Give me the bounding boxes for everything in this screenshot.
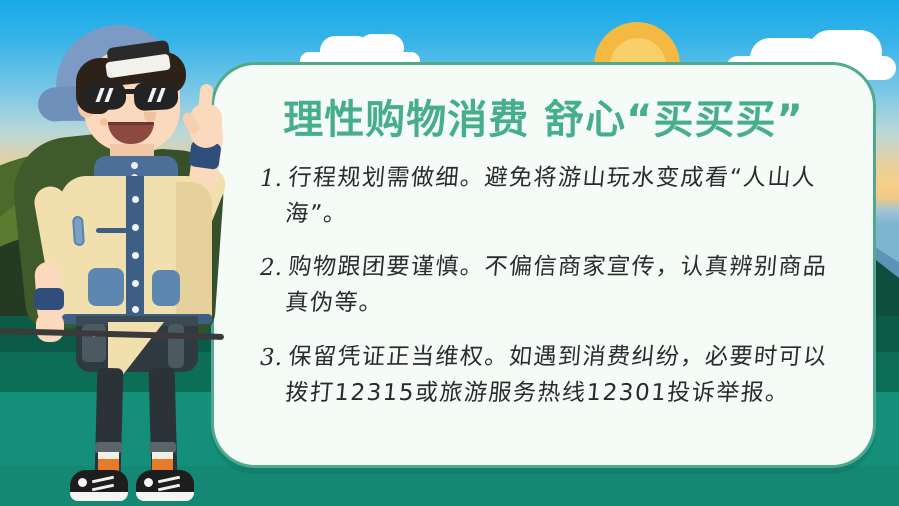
list-item-number: 3.: [260, 340, 290, 377]
list-item-text: 行程规划需做细。避免将游山玩水变成看“人山人海”。: [284, 161, 839, 232]
poster-canvas: 理性购物消费 舒心“买买买” 1. 行程规划需做细。避免将游山玩水变成看“人山人…: [0, 0, 899, 506]
list-item-text: 购物跟团要谨慎。不偏信商家宣传，认真辨别商品真伪等。: [284, 250, 839, 321]
ground-band-foreground: [0, 466, 899, 506]
list-item-number: 1.: [260, 161, 290, 198]
tips-list: 1. 行程规划需做细。避免将游山玩水变成看“人山人海”。 2. 购物跟团要谨慎。…: [260, 161, 839, 429]
list-item: 2. 购物跟团要谨慎。不偏信商家宣传，认真辨别商品真伪等。: [260, 250, 839, 321]
list-item: 1. 行程规划需做细。避免将游山玩水变成看“人山人海”。: [260, 161, 839, 232]
content-card: 理性购物消费 舒心“买买买” 1. 行程规划需做细。避免将游山玩水变成看“人山人…: [211, 62, 876, 468]
page-title: 理性购物消费 舒心“买买买”: [214, 87, 873, 145]
list-item-number: 2.: [260, 250, 290, 287]
list-item: 3. 保留凭证正当维权。如遇到消费纠纷，必要时可以拨打12315或旅游服务热线1…: [260, 340, 839, 411]
list-item-text: 保留凭证正当维权。如遇到消费纠纷，必要时可以拨打12315或旅游服务热线1230…: [284, 340, 839, 411]
